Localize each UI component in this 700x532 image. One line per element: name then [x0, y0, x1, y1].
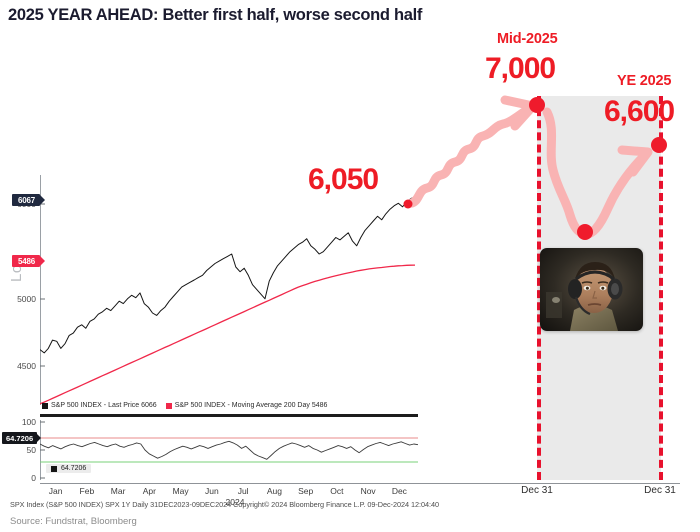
xtick-mar: Mar [111, 486, 126, 496]
xtick-jan: Jan [49, 486, 63, 496]
bloomberg-chart: 6000 5000 4500 Log 6067 5486 S&P 500 IND… [0, 170, 420, 500]
date-label-mid-2025: Dec 31 [521, 485, 553, 496]
rsi-y-ticks: 100 50 0 [0, 420, 40, 480]
panel-separator [40, 414, 418, 417]
xtick-aug: Aug [267, 486, 282, 496]
rsi-ytickmark-50 [40, 450, 45, 451]
xtick-dec: Dec [392, 486, 407, 496]
xtick-nov: Nov [361, 486, 376, 496]
label-mid-2025-value: 7,000 [485, 52, 555, 86]
chart-legend: S&P 500 INDEX - Last Price 6066 S&P 500 … [42, 402, 327, 409]
price-dot-mid-2025 [529, 97, 545, 113]
rsi-ytickmark-0 [40, 478, 45, 479]
rsi-swatch-icon [51, 466, 57, 472]
xtick-apr: Apr [143, 486, 156, 496]
price-series-plot [40, 175, 415, 405]
label-mid-2025-period: Mid-2025 [497, 31, 557, 47]
rsi-ytick-0: 0 [31, 473, 40, 483]
rsi-ytick-50: 50 [27, 445, 40, 455]
movie-still-thumbnail [540, 248, 643, 331]
legend-swatch-black-icon [42, 403, 48, 409]
xtick-sep: Sep [298, 486, 313, 496]
legend-label-ma: S&P 500 INDEX - Moving Average 200 Day 5… [175, 402, 328, 409]
label-ye-2025-period: YE 2025 [617, 73, 671, 89]
legend-label-price: S&P 500 INDEX - Last Price 6066 [51, 402, 157, 409]
rsi-footer-value: 64.7206 [61, 465, 86, 472]
rsi-ytickmark-100 [40, 422, 45, 423]
page-title: 2025 YEAR AHEAD: Better first half, wors… [8, 6, 422, 25]
ytick-4500: 4500 [17, 361, 40, 371]
x-axis-line [40, 483, 680, 484]
bloomberg-footer: SPX Index (S&P 500 INDEX) SPX 1Y Daily 3… [10, 500, 439, 509]
legend-item-ma: S&P 500 INDEX - Moving Average 200 Day 5… [166, 402, 328, 409]
xtick-oct: Oct [330, 486, 343, 496]
date-label-ye-2025: Dec 31 [644, 485, 676, 496]
rsi-footer-legend: 64.7206 [46, 464, 91, 473]
xtick-jul: Jul [238, 486, 249, 496]
label-current-value: 6,050 [308, 163, 378, 197]
movie-still-image [540, 248, 643, 331]
legend-item-price: S&P 500 INDEX - Last Price 6066 [42, 402, 157, 409]
price-tag-ma: 5486 [12, 255, 40, 267]
xtick-jun: Jun [205, 486, 219, 496]
label-ye-2025-value: 6,600 [604, 95, 674, 129]
price-dot-trough [577, 224, 593, 240]
rsi-plot [40, 420, 418, 480]
price-tag-last: 6067 [12, 194, 40, 206]
rsi-value-tag: 64.7206 [2, 432, 37, 444]
rsi-subpanel: 64.7206 [40, 420, 418, 480]
xtick-may: May [173, 486, 189, 496]
vline-ye-2025 [659, 96, 663, 480]
legend-swatch-red-icon [166, 403, 172, 409]
price-dot-current [404, 200, 413, 209]
price-dot-ye-2025 [651, 137, 667, 153]
ytick-5000: 5000 [17, 294, 40, 304]
rsi-ytick-100: 100 [22, 417, 40, 427]
xtick-feb: Feb [80, 486, 95, 496]
source-note: Source: Fundstrat, Bloomberg [10, 516, 137, 527]
